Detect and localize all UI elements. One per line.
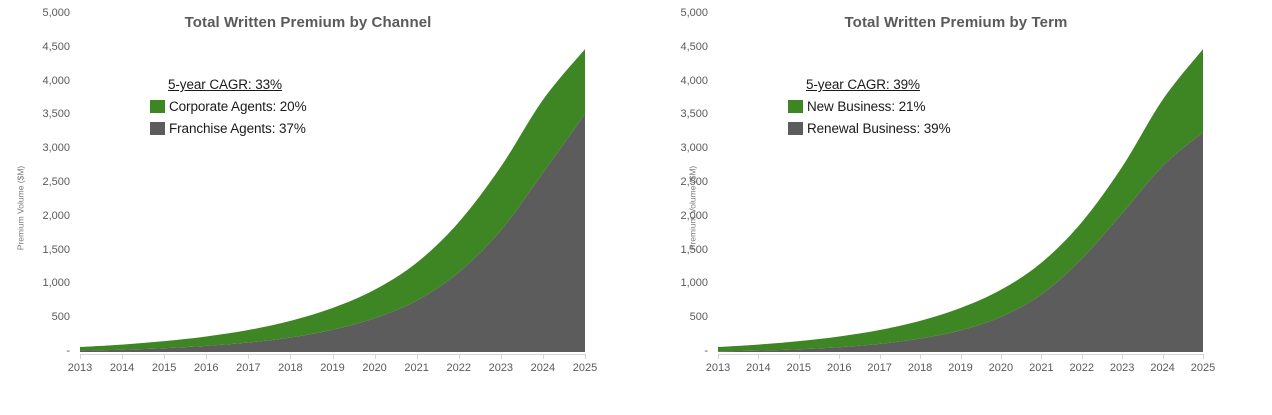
y-tick-label-5000: 5,000	[22, 8, 70, 19]
x-tick-mark	[718, 355, 719, 359]
y-tick-label-1000: 1,000	[660, 278, 708, 289]
x-tick-label-2020: 2020	[979, 363, 1023, 374]
x-tick-mark	[585, 355, 586, 359]
x-tick-mark	[206, 355, 207, 359]
x-tick-mark	[758, 355, 759, 359]
x-tick-label-2016: 2016	[184, 363, 228, 374]
x-tick-mark	[799, 355, 800, 359]
legend-item-renewal-business: Renewal Business: 39%	[788, 118, 950, 140]
legend-label-corporate-agents: Corporate Agents: 20%	[169, 96, 307, 118]
x-tick-label-2024: 2024	[1141, 363, 1185, 374]
x-tick-mark	[1122, 355, 1123, 359]
x-tick-mark	[80, 355, 81, 359]
dual-chart-board: Total Written Premium by Channel Premium…	[0, 0, 1272, 415]
x-tick-mark	[290, 355, 291, 359]
x-tick-mark	[333, 355, 334, 359]
x-tick-label-2021: 2021	[1019, 363, 1063, 374]
x-tick-label-2023: 2023	[1100, 363, 1144, 374]
x-tick-label-2018: 2018	[268, 363, 312, 374]
legend-label-new-business: New Business: 21%	[807, 96, 925, 118]
area-chart-svg	[636, 0, 1272, 415]
plot-area-channel: 2013201420152016201720182019202020212022…	[0, 0, 636, 415]
x-tick-label-2016: 2016	[817, 363, 861, 374]
x-tick-mark	[1163, 355, 1164, 359]
legend-label-renewal-business: Renewal Business: 39%	[807, 118, 950, 140]
x-tick-mark	[1203, 355, 1204, 359]
y-tick-label-2500: 2,500	[660, 177, 708, 188]
legend-label-franchise-agents: Franchise Agents: 37%	[169, 118, 306, 140]
legend-cagr-heading-term: 5-year CAGR: 39%	[788, 74, 950, 96]
x-tick-label-2025: 2025	[563, 363, 607, 374]
legend-cagr-heading-channel: 5-year CAGR: 33%	[150, 74, 307, 96]
y-tick-label-4500: 4,500	[660, 42, 708, 53]
x-tick-mark	[164, 355, 165, 359]
y-tick-label-2000: 2,000	[22, 211, 70, 222]
x-tick-mark	[880, 355, 881, 359]
y-tick-label-: -	[22, 346, 70, 357]
x-tick-label-2022: 2022	[1060, 363, 1104, 374]
x-tick-mark	[248, 355, 249, 359]
x-tick-label-2017: 2017	[226, 363, 270, 374]
y-tick-label-2500: 2,500	[22, 177, 70, 188]
x-tick-mark	[543, 355, 544, 359]
x-tick-mark	[417, 355, 418, 359]
x-tick-label-2019: 2019	[939, 363, 983, 374]
x-tick-label-2025: 2025	[1181, 363, 1225, 374]
y-tick-label-3500: 3,500	[660, 109, 708, 120]
x-tick-mark	[375, 355, 376, 359]
legend-swatch-renewal-business	[788, 122, 803, 135]
legend-term: 5-year CAGR: 39% New Business: 21% Renew…	[788, 74, 950, 140]
y-tick-label-1500: 1,500	[22, 245, 70, 256]
legend-channel: 5-year CAGR: 33% Corporate Agents: 20% F…	[150, 74, 307, 140]
y-tick-label-3500: 3,500	[22, 109, 70, 120]
x-tick-label-2021: 2021	[395, 363, 439, 374]
x-tick-label-2013: 2013	[696, 363, 740, 374]
y-tick-label-3000: 3,000	[22, 143, 70, 154]
y-tick-label-500: 500	[660, 312, 708, 323]
legend-swatch-franchise-agents	[150, 122, 165, 135]
x-tick-mark	[961, 355, 962, 359]
y-tick-label-3000: 3,000	[660, 143, 708, 154]
x-tick-label-2014: 2014	[736, 363, 780, 374]
legend-swatch-new-business	[788, 100, 803, 113]
x-tick-mark	[1041, 355, 1042, 359]
x-tick-mark	[501, 355, 502, 359]
x-tick-label-2024: 2024	[521, 363, 565, 374]
x-tick-label-2020: 2020	[353, 363, 397, 374]
plot-area-term: 2013201420152016201720182019202020212022…	[636, 0, 1272, 415]
y-tick-label-500: 500	[22, 312, 70, 323]
y-tick-label-4000: 4,000	[660, 76, 708, 87]
legend-swatch-corporate-agents	[150, 100, 165, 113]
legend-item-franchise-agents: Franchise Agents: 37%	[150, 118, 307, 140]
y-tick-label-5000: 5,000	[660, 8, 708, 19]
legend-item-corporate-agents: Corporate Agents: 20%	[150, 96, 307, 118]
x-tick-label-2019: 2019	[311, 363, 355, 374]
y-tick-label-: -	[660, 346, 708, 357]
x-tick-label-2018: 2018	[898, 363, 942, 374]
y-tick-label-1000: 1,000	[22, 278, 70, 289]
x-tick-label-2015: 2015	[142, 363, 186, 374]
y-tick-label-4000: 4,000	[22, 76, 70, 87]
chart-panel-term: Total Written Premium by Term Premium Vo…	[636, 0, 1272, 415]
y-tick-label-2000: 2,000	[660, 211, 708, 222]
y-tick-label-4500: 4,500	[22, 42, 70, 53]
x-tick-label-2015: 2015	[777, 363, 821, 374]
x-tick-mark	[122, 355, 123, 359]
x-tick-label-2022: 2022	[437, 363, 481, 374]
x-tick-mark	[839, 355, 840, 359]
x-tick-label-2017: 2017	[858, 363, 902, 374]
x-tick-label-2014: 2014	[100, 363, 144, 374]
x-tick-mark	[920, 355, 921, 359]
x-tick-label-2023: 2023	[479, 363, 523, 374]
x-tick-mark	[459, 355, 460, 359]
x-tick-mark	[1082, 355, 1083, 359]
x-tick-label-2013: 2013	[58, 363, 102, 374]
chart-panel-channel: Total Written Premium by Channel Premium…	[0, 0, 636, 415]
y-tick-label-1500: 1,500	[660, 245, 708, 256]
legend-item-new-business: New Business: 21%	[788, 96, 950, 118]
area-chart-svg	[0, 0, 636, 415]
x-tick-mark	[1001, 355, 1002, 359]
